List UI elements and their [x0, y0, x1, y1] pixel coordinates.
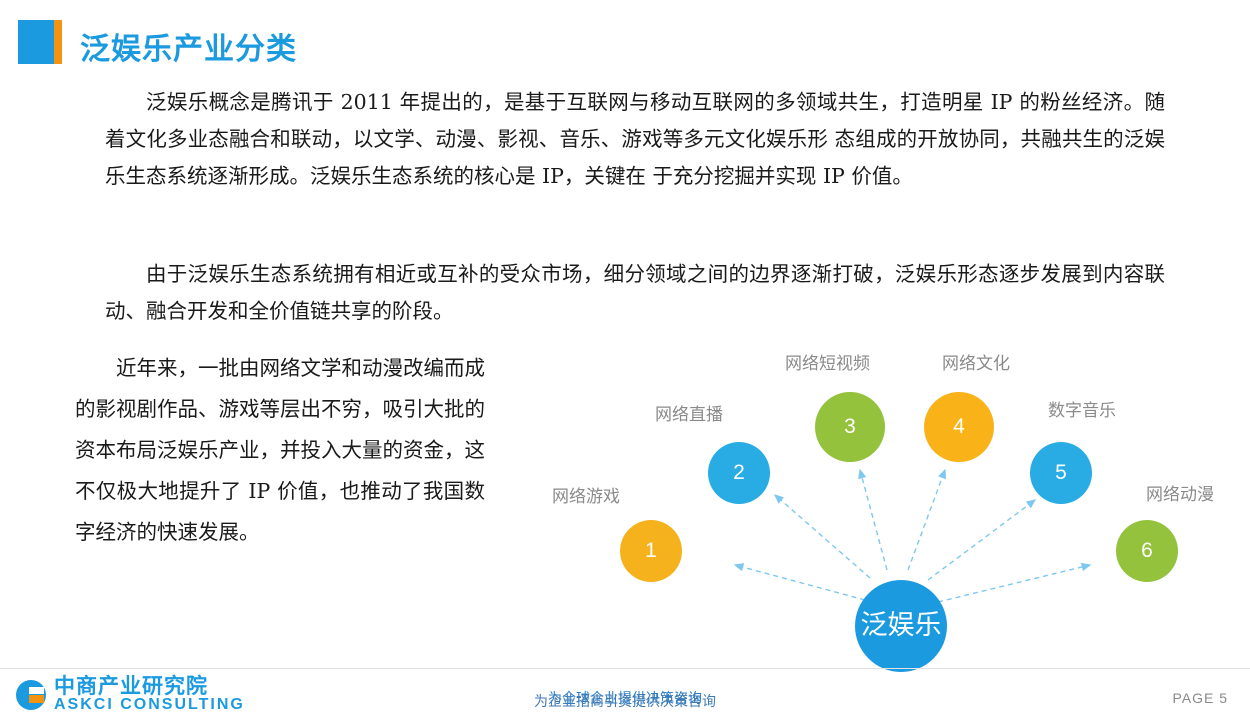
diagram-node-2: 2: [708, 442, 770, 504]
diagram-node-2-label: 网络直播: [655, 400, 723, 425]
diagram-node-5: 5: [1030, 442, 1092, 504]
diagram-node-6: 6: [1116, 520, 1178, 582]
diagram-node-2-number: 2: [733, 461, 745, 485]
diagram-node-3-label: 网络短视频: [785, 349, 870, 374]
diagram-node-1: 1: [620, 520, 682, 582]
diagram-node-4-label: 网络文化: [942, 349, 1010, 374]
header-accent-block-blue: [18, 20, 54, 64]
paragraph-recent-years: 近年来，一批由网络文学和动漫改编而成的影视剧作品、游戏等层出不穷，吸引大批的资本…: [75, 348, 485, 553]
diagram-node-1-label: 网络游戏: [552, 482, 620, 507]
diagram-node-6-number: 6: [1141, 539, 1153, 563]
diagram-hub-node: 泛娱乐: [855, 580, 947, 672]
diagram-node-5-label: 数字音乐: [1048, 396, 1116, 421]
footer-tagline: 为全球企业提供决策咨询 为企业招商引资提供决策咨询: [0, 688, 1250, 708]
paragraph-intro: 泛娱乐概念是腾讯于 2011 年提出的，是基于互联网与移动互联网的多领域共生，打…: [105, 84, 1165, 195]
diagram-hub-label: 泛娱乐: [861, 610, 942, 642]
page-number: PAGE 5: [1172, 690, 1228, 706]
pan-entertainment-diagram: 1 网络游戏 2 网络直播 3 网络短视频 4 网络文化 5 数字音乐 6 网络…: [530, 330, 1230, 670]
diagram-node-5-number: 5: [1055, 461, 1067, 485]
header-accent-block-orange: [54, 20, 62, 64]
footer-divider: [0, 668, 1250, 669]
diagram-node-3: 3: [815, 392, 885, 462]
diagram-node-4-number: 4: [953, 415, 965, 439]
diagram-node-6-label: 网络动漫: [1146, 480, 1214, 505]
footer-tagline-line2: 为企业招商引资提供决策咨询: [0, 691, 1250, 711]
paragraph-ecosystem: 由于泛娱乐生态系统拥有相近或互补的受众市场，细分领域之间的边界逐渐打破，泛娱乐形…: [105, 256, 1165, 330]
diagram-node-1-number: 1: [645, 539, 657, 563]
diagram-node-3-number: 3: [844, 415, 856, 439]
page-title: 泛娱乐产业分类: [80, 24, 297, 68]
diagram-node-4: 4: [924, 392, 994, 462]
